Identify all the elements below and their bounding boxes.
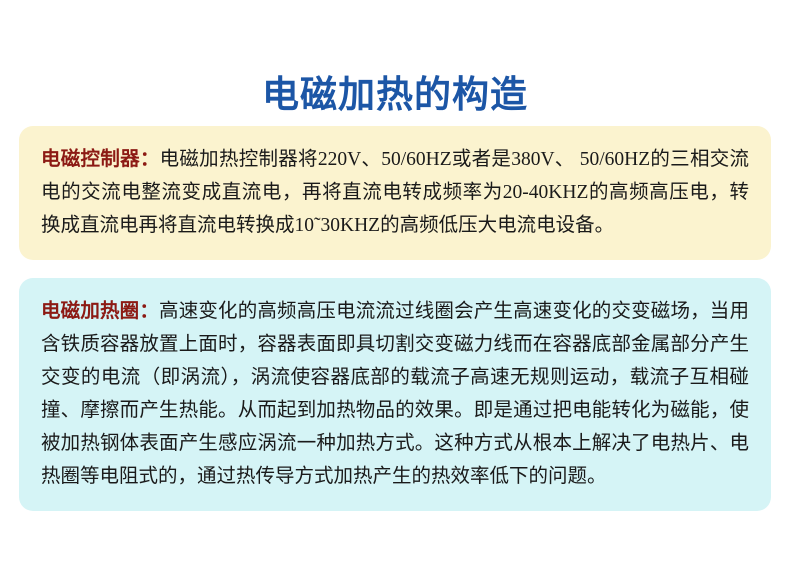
infographic-page: 电磁加热的构造 电磁控制器：电磁加热控制器将220V、50/60HZ或者是380… bbox=[0, 0, 790, 572]
panel-electromagnetic-controller: 电磁控制器：电磁加热控制器将220V、50/60HZ或者是380V、 50/60… bbox=[19, 126, 771, 260]
panel-electromagnetic-heating-coil: 电磁加热圈：高速变化的高频高压电流流过线圈会产生高速变化的交变磁场，当用含铁质容… bbox=[19, 278, 771, 511]
panel-paragraph: 电磁加热圈：高速变化的高频高压电流流过线圈会产生高速变化的交变磁场，当用含铁质容… bbox=[41, 295, 749, 493]
page-title: 电磁加热的构造 bbox=[0, 75, 790, 116]
panel-paragraph: 电磁控制器：电磁加热控制器将220V、50/60HZ或者是380V、 50/60… bbox=[41, 143, 749, 242]
panel-body-electromagnetic-heating-coil: 高速变化的高频高压电流流过线圈会产生高速变化的交变磁场，当用含铁质容器放置上面时… bbox=[41, 301, 749, 487]
panel-label-electromagnetic-controller: 电磁控制器： bbox=[41, 149, 160, 170]
panel-label-electromagnetic-heating-coil: 电磁加热圈： bbox=[41, 301, 159, 322]
